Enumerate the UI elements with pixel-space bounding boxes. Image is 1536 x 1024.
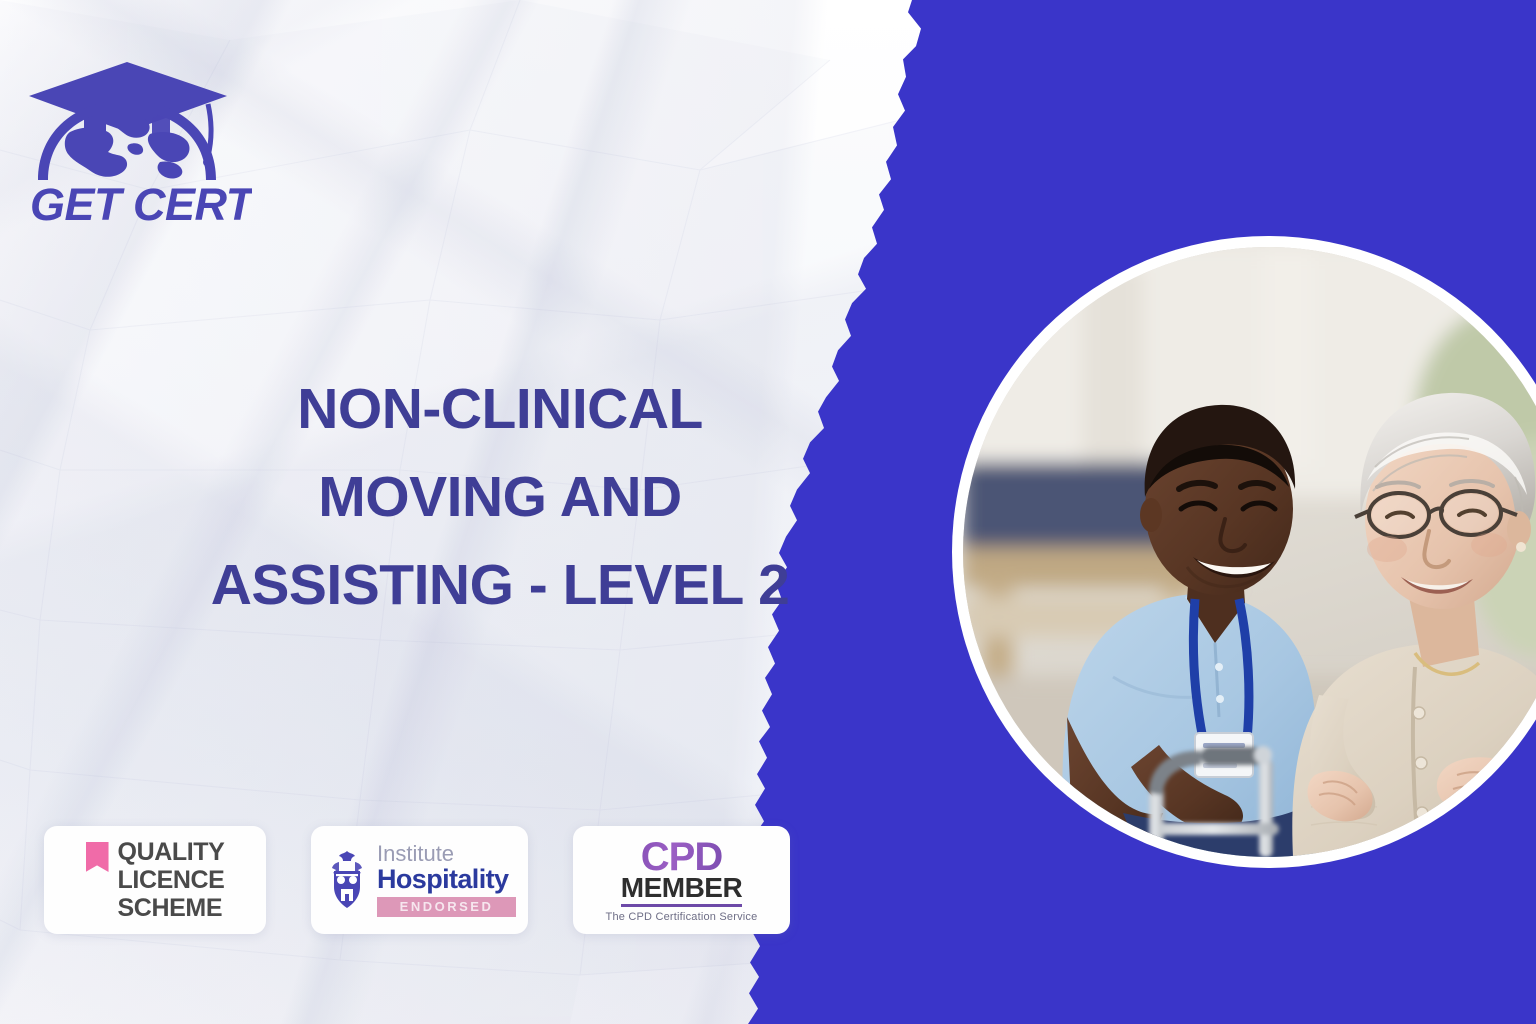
badge-institute-of-hospitality[interactable]: Institute Hospitality ENDORSED xyxy=(311,826,528,934)
cpd-acronym: CPD xyxy=(585,838,778,876)
cpd-member-label: MEMBER xyxy=(621,874,742,907)
qls-line-2: LICENCE xyxy=(118,866,225,894)
badge-quality-licence-scheme[interactable]: QUALITY LICENCE SCHEME xyxy=(44,826,266,934)
page-title: NON-CLINICAL MOVING AND ASSISTING - LEVE… xyxy=(110,365,890,629)
badge-cpd-member[interactable]: CPD MEMBER The CPD Certification Service xyxy=(573,826,790,934)
caregiver-and-senior-photo xyxy=(963,247,1536,857)
qls-line-3: SCHEME xyxy=(118,894,225,922)
title-line-1: NON-CLINICAL xyxy=(110,365,890,453)
ioh-institute-label: Institute xyxy=(377,843,516,865)
title-line-2: MOVING AND xyxy=(110,453,890,541)
graduation-cap-globe-icon: GET CERTIFY xyxy=(22,44,252,229)
qls-text: QUALITY LICENCE SCHEME xyxy=(118,838,225,922)
hero-photo xyxy=(963,247,1536,857)
ioh-hospitality-label: Hospitality xyxy=(377,865,516,894)
logo-wordmark: GET CERTIFY xyxy=(30,179,252,229)
heraldic-crest-icon xyxy=(323,849,371,911)
accreditation-badge-row: QUALITY LICENCE SCHEME xyxy=(44,826,790,934)
title-line-3: ASSISTING - LEVEL 2 xyxy=(110,541,890,629)
cpd-service-label: The CPD Certification Service xyxy=(585,911,778,923)
pink-bookmark-icon xyxy=(86,842,109,872)
course-banner: GET CERTIFY NON-CLINICAL MOVING AND ASSI… xyxy=(0,0,1536,1024)
brand-logo[interactable]: GET CERTIFY xyxy=(22,44,252,229)
hero-photo-circle xyxy=(952,236,1536,868)
ioh-endorsed-ribbon: ENDORSED xyxy=(377,897,516,917)
qls-line-1: QUALITY xyxy=(118,838,225,866)
